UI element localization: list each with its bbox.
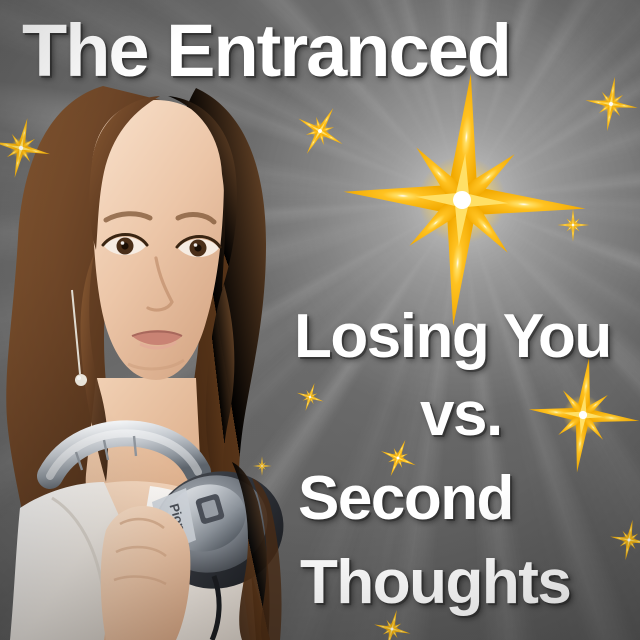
artist-name-text: The Entranced <box>22 14 510 88</box>
album-cover: Pioneer The Entranced Losing You vs. Sec… <box>0 0 640 640</box>
title-line-thoughts: Thoughts <box>300 552 570 614</box>
title-line-vs: vs. <box>420 384 502 446</box>
title-line-second: Second <box>298 468 513 530</box>
title-line-losing-you: Losing You <box>294 306 611 368</box>
